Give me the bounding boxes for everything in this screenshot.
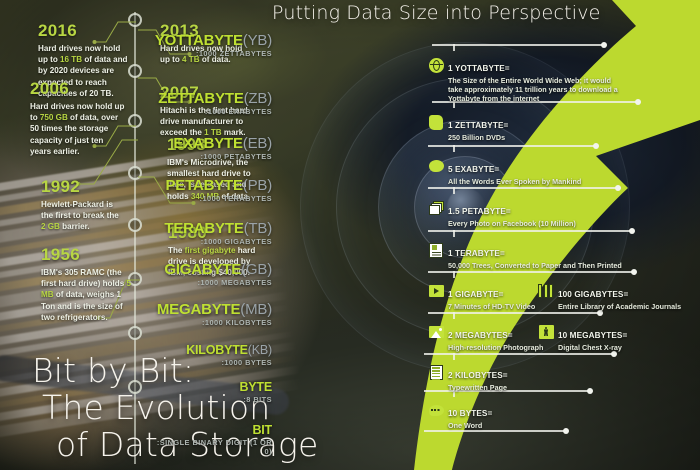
section-title-perspective: Putting Data Size into Perspective	[272, 2, 601, 24]
timeline-year: 2016	[38, 22, 130, 39]
fact-exabyte: 5 EXABYTE= All the Words Ever Spoken by …	[428, 158, 581, 186]
fact-10-megabytes: 10 MEGABYTES= Digital Chest X-ray	[538, 324, 627, 352]
fact-headline: 10 BYTES=	[448, 409, 492, 418]
books-icon	[538, 283, 554, 299]
timeline-body: Hewlett-Packard is the first to break th…	[41, 199, 125, 233]
play-video-icon	[428, 283, 444, 299]
page-title-line-1: Bit by Bit:	[32, 352, 332, 389]
unit-sub: :1000 BYTES	[186, 358, 272, 367]
fact-headline: 5 EXABYTE=	[448, 165, 499, 174]
unit-label-byte: BYTE :8 BITS	[239, 381, 272, 404]
unit-name: BYTE	[239, 380, 272, 394]
fact-headline: 1 GIGABYTE=	[448, 290, 503, 299]
highlighted-value: 2 GB	[41, 222, 60, 231]
unit-abbr: (PB)	[243, 177, 272, 194]
unit-name: EXABYTE	[173, 135, 242, 152]
document-icon	[428, 242, 444, 258]
body-text-run: of data, weighs 1 Ton and is the size of…	[41, 290, 123, 321]
timeline-node	[128, 218, 142, 232]
fact-detail: One Word	[448, 421, 492, 430]
typewritten-page-icon	[428, 364, 444, 380]
speech-bubble-icon	[428, 158, 444, 174]
word-bubble-icon	[428, 402, 444, 418]
fact-headline: 1 YOTTABYTE=	[448, 64, 510, 73]
fact-detail: High-resolution Photograph	[448, 343, 543, 352]
unit-abbr: (TB)	[244, 220, 272, 237]
ladder-tick	[453, 44, 455, 51]
timeline-body: IBM's 305 RAMC (the first hard drive) ho…	[41, 267, 133, 323]
unit-label-zettabyte: ZETTABYTE(ZB) :1000 EXABYTES	[158, 91, 272, 116]
disc-icon	[428, 114, 444, 130]
timeline-entry-1992: 1992 Hewlett-Packard is the first to bre…	[41, 178, 125, 233]
unit-name: GIGABYTE	[164, 261, 241, 278]
unit-name: MEGABYTE	[157, 301, 240, 318]
fact-headline: 1.5 PETABYTE=	[448, 207, 511, 216]
fact-gigabyte: 1 GIGABYTE= 7 Minutes of HD-TV Video	[428, 283, 535, 311]
unit-name: YOTTABYTE	[155, 32, 243, 49]
fact-byte: 10 BYTES= One Word	[428, 402, 492, 430]
timeline-entry-1956: 1956 IBM's 305 RAMC (the first hard driv…	[41, 246, 133, 323]
unit-label-yottabyte: YOTTABYTE(YB) :1000 ZETTABYTES	[155, 33, 272, 58]
unit-sub: :8 BITS	[239, 395, 272, 404]
ladder-rule-bit	[424, 430, 566, 432]
unit-name: PETABYTE	[166, 177, 243, 194]
infographic-poster: 2016 Hard drives now hold up to 16 TB of…	[0, 0, 700, 470]
ladder-tick	[453, 312, 455, 319]
body-text-run: Hewlett-Packard is the first to break th…	[41, 200, 119, 220]
fact-detail: 7 Minutes of HD-TV Video	[448, 302, 535, 311]
unit-sub: :1000 EXABYTES	[158, 107, 272, 116]
ladder-tick	[453, 353, 455, 360]
ladder-tick	[453, 230, 455, 237]
fact-detail: Every Photo on Facebook (10 Million)	[448, 219, 576, 228]
highlighted-value: first gigabyte	[185, 246, 236, 255]
body-text-run: The	[168, 246, 185, 255]
unit-name: ZETTABYTE	[158, 90, 243, 107]
unit-sub: :1000 ZETTABYTES	[155, 49, 272, 58]
timeline-year: 2006	[30, 80, 126, 97]
unit-label-megabyte: MEGABYTE(MB) :1000 KILOBYTES	[157, 302, 272, 327]
unit-label-terabyte: TERABYTE(TB) :1000 GIGABYTES	[164, 221, 272, 246]
fact-headline: 100 GIGABYTES=	[558, 290, 628, 299]
unit-name: BIT	[252, 423, 272, 437]
ladder-rule-gigabyte	[428, 271, 634, 273]
fact-petabyte: 1.5 PETABYTE= Every Photo on Facebook (1…	[428, 200, 576, 228]
unit-label-petabyte: PETABYTE(PB) :1000 TERABYTES	[166, 178, 273, 203]
unit-abbr: (YB)	[243, 32, 272, 49]
fact-headline: 1 TERABYTE=	[448, 249, 505, 258]
timeline-year: 1992	[41, 178, 125, 195]
fact-detail: 50,000 Trees, Converted to Paper and The…	[448, 261, 622, 270]
fact-zettabyte: 1 ZETTABYTE= 250 Billion DVDs	[428, 114, 508, 142]
fact-headline: 10 MEGABYTES=	[558, 331, 627, 340]
highlighted-value: 750 GB	[40, 113, 68, 122]
unit-label-bit: BIT :SINGLE BINARY DIGIT (1 OR 0)	[156, 424, 272, 456]
unit-abbr: (GB)	[241, 261, 272, 278]
xray-icon	[538, 324, 554, 340]
fact-headline: 2 KILOBYTES=	[448, 371, 508, 380]
fact-kilobyte: 2 KILOBYTES= Typewritten Page	[428, 364, 508, 392]
body-text-run: IBM's 305 RAMC (the first hard drive) ho…	[41, 268, 126, 288]
highlighted-value: 16 TB	[60, 55, 82, 64]
fact-detail: Typewritten Page	[448, 383, 508, 392]
unit-sub: :SINGLE BINARY DIGIT (1 OR 0)	[156, 438, 272, 456]
unit-abbr: (MB)	[240, 301, 272, 318]
ladder-rule-petabyte	[428, 187, 618, 189]
photo-stack-icon	[428, 200, 444, 216]
unit-label-exabyte: EXABYTE(EB) :1000 PETABYTES	[173, 136, 272, 161]
unit-abbr: (KB)	[248, 343, 272, 357]
image-icon	[428, 324, 444, 340]
unit-label-kilobyte: KILOBYTE(KB) :1000 BYTES	[186, 344, 272, 367]
body-text-run: barrier.	[60, 222, 90, 231]
ladder-tick	[453, 187, 455, 194]
unit-sub: :1000 PETABYTES	[173, 152, 272, 161]
fact-detail: 250 Billion DVDs	[448, 133, 508, 142]
unit-abbr: (ZB)	[244, 90, 272, 107]
unit-name: KILOBYTE	[186, 343, 248, 357]
unit-sub: :1000 TERABYTES	[166, 194, 273, 203]
fact-headline: 1 ZETTABYTE=	[448, 121, 508, 130]
fact-detail: All the Words Ever Spoken by Mankind	[448, 177, 581, 186]
globe-icon	[428, 57, 444, 73]
unit-label-gigabyte: GIGABYTE(GB) :1000 MEGABYTES	[164, 262, 272, 287]
timeline-body: Hard drives now hold up to 750 GB of dat…	[30, 101, 126, 157]
fact-terabyte: 1 TERABYTE= 50,000 Trees, Converted to P…	[428, 242, 622, 270]
fact-detail: Digital Chest X-ray	[558, 343, 627, 352]
timeline-entry-2006: 2006 Hard drives now hold up to 750 GB o…	[30, 80, 126, 157]
page-title-line-2: The Evolution	[32, 389, 332, 426]
unit-name: TERABYTE	[164, 220, 243, 237]
unit-sub: :1000 MEGABYTES	[164, 278, 272, 287]
ladder-tick	[453, 271, 455, 278]
fact-detail: Entire Library of Academic Journals	[558, 302, 681, 311]
ladder-rule-terabyte	[428, 230, 632, 232]
unit-abbr: (EB)	[243, 135, 272, 152]
ladder-tick	[453, 145, 455, 152]
fact-100-gigabytes: 100 GIGABYTES= Entire Library of Academi…	[538, 283, 681, 311]
unit-sub: :1000 GIGABYTES	[164, 237, 272, 246]
fact-megabyte: 2 MEGABYTES= High-resolution Photograph	[428, 324, 543, 352]
ladder-rule-yottabyte	[432, 44, 604, 46]
fact-headline: 2 MEGABYTES=	[448, 331, 513, 340]
unit-sub: :1000 KILOBYTES	[157, 318, 272, 327]
fact-detail: The Size of the Entire World Wide Web; i…	[448, 76, 620, 104]
fact-yottabyte: 1 YOTTABYTE= The Size of the Entire Worl…	[428, 57, 620, 104]
timeline-year: 1956	[41, 246, 133, 263]
timeline-node	[128, 326, 142, 340]
